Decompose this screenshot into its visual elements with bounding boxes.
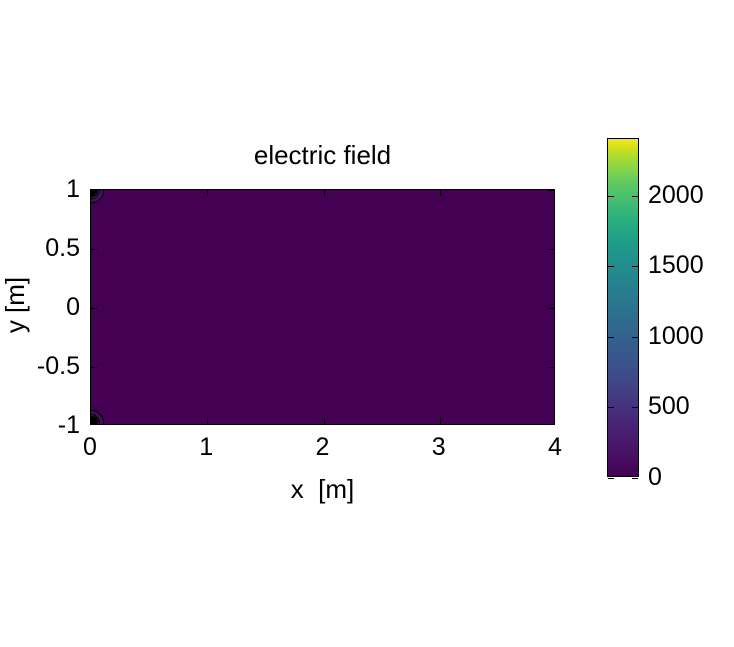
colorbar-tick bbox=[608, 337, 614, 338]
x-axis-tick-top bbox=[207, 190, 208, 196]
y-axis-tick-right bbox=[548, 308, 554, 309]
colorbar-tick-label: 2000 bbox=[648, 181, 704, 209]
colorbar-tick-label: 1500 bbox=[648, 251, 704, 279]
x-axis-tick-top bbox=[324, 190, 325, 196]
x-axis-tick-label: 2 bbox=[293, 433, 353, 461]
colorbar[interactable] bbox=[607, 138, 639, 477]
colorbar-tick-label: 500 bbox=[648, 392, 690, 420]
y-axis-tick-label: 0 bbox=[10, 293, 80, 321]
y-axis-tick bbox=[91, 367, 97, 368]
colorbar-tick bbox=[608, 196, 614, 197]
y-axis-tick-label: 1 bbox=[10, 175, 80, 203]
colorbar-tick-right bbox=[632, 266, 638, 267]
y-axis-tick bbox=[91, 190, 97, 191]
y-axis-tick-right bbox=[548, 190, 554, 191]
x-axis-tick-top bbox=[440, 190, 441, 196]
x-axis-tick bbox=[324, 418, 325, 424]
x-axis-tick bbox=[440, 418, 441, 424]
figure-canvas: electric field x [m] y [m] 01234-1-0.500… bbox=[0, 0, 734, 647]
x-axis-tick bbox=[91, 418, 92, 424]
x-axis-tick-label: 4 bbox=[525, 433, 585, 461]
x-axis-tick bbox=[207, 418, 208, 424]
colorbar-tick-label: 0 bbox=[648, 463, 662, 491]
colorbar-tick-right bbox=[632, 196, 638, 197]
y-axis-tick bbox=[91, 249, 97, 250]
y-axis-tick-right bbox=[548, 367, 554, 368]
colorbar-tick bbox=[608, 266, 614, 267]
y-axis-tick bbox=[91, 308, 97, 309]
y-axis-tick-label: -1 bbox=[10, 411, 80, 439]
x-axis-tick-label: 3 bbox=[409, 433, 469, 461]
y-axis-tick-label: -0.5 bbox=[10, 352, 80, 380]
contour-field-render bbox=[91, 190, 554, 424]
colorbar-tick-right bbox=[632, 478, 638, 479]
colorbar-tick bbox=[608, 478, 614, 479]
colorbar-tick-right bbox=[632, 337, 638, 338]
contour-plot-axes[interactable] bbox=[90, 189, 555, 425]
y-axis-tick-label: 0.5 bbox=[10, 234, 80, 262]
colorbar-tick bbox=[608, 407, 614, 408]
x-axis-tick-label: 1 bbox=[176, 433, 236, 461]
colorbar-tick-label: 1000 bbox=[648, 322, 704, 350]
colorbar-tick-right bbox=[632, 407, 638, 408]
x-axis-label: x [m] bbox=[90, 474, 555, 504]
page-title: electric field bbox=[90, 140, 555, 170]
y-axis-tick-right bbox=[548, 249, 554, 250]
